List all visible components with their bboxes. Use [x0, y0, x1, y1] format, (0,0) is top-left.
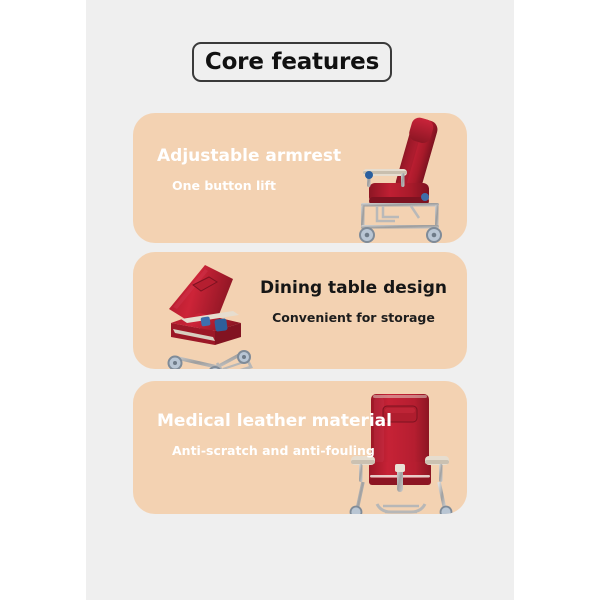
card-subtitle: Anti-scratch and anti-fouling [157, 444, 392, 458]
card-title: Adjustable armrest [157, 147, 341, 167]
card-inner: Dining table design Convenient for stora… [133, 252, 467, 369]
poster-page: Core features Adjustable armrest One but… [0, 0, 600, 600]
card-inner: Adjustable armrest One button lift [133, 113, 467, 243]
page-title: Core features [205, 51, 379, 74]
card-text-block: Dining table design Convenient for stora… [260, 279, 447, 325]
card-title: Medical leather material [157, 412, 392, 432]
red-medical-recliner-chair-side-view-image [339, 113, 465, 243]
card-subtitle: One button lift [157, 179, 341, 193]
card-text-block: Adjustable armrest One button lift [157, 147, 341, 193]
page-title-box: Core features [192, 42, 392, 82]
card-text-block: Medical leather material Anti-scratch an… [157, 412, 392, 458]
feature-card-medical-leather-material[interactable]: Medical leather material Anti-scratch an… [133, 381, 467, 514]
card-inner: Medical leather material Anti-scratch an… [133, 381, 467, 514]
feature-card-adjustable-armrest[interactable]: Adjustable armrest One button lift [133, 113, 467, 243]
card-title: Dining table design [260, 279, 447, 299]
feature-card-dining-table-design[interactable]: Dining table design Convenient for stora… [133, 252, 467, 369]
card-subtitle: Convenient for storage [260, 311, 447, 325]
